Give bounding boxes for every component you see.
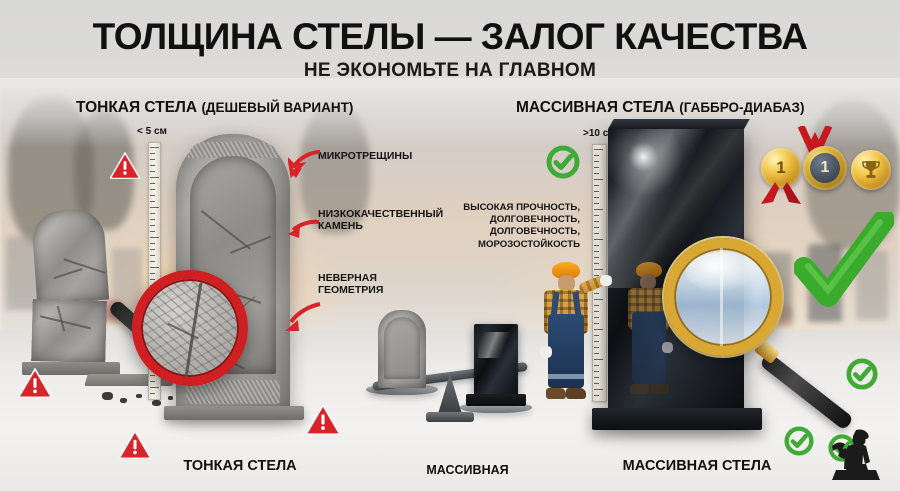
ruler-tick [594,221,599,222]
massive-stele-top-edge [608,119,750,129]
section-heading-thin-paren: (ДЕШЕВЫЙ ВАРИАНТ) [201,100,353,115]
ruler-tick [150,183,155,184]
ruler-tick [150,387,159,388]
caption-thin: ТОНКАЯ СТЕЛА (ДЕШЕВЫЙ ВАРИАНТ) [110,441,370,491]
scale-thin-stele [378,310,426,388]
caption-massive-main: МАССИВНАЯ СТЕЛА [623,458,772,474]
benefits-list: ВЫСОКАЯ ПРОЧНОСТЬ, ДОЛГОВЕЧНОСТЬ, ДОЛГОВ… [452,202,580,251]
crack-line [57,306,65,332]
ruler-tick [150,261,155,262]
caption-balance-main: МАССИВНАЯ [426,463,508,477]
worker-reflection-boot [650,384,669,394]
worker-reflection-overalls [632,312,666,384]
ruler-tick [150,393,155,394]
medal-trophy [851,150,891,190]
medal-first-center: 1 [803,146,847,190]
ruler-tick [150,213,155,214]
ruler-tick [594,191,599,192]
warning-triangle-icon [306,404,340,435]
check-circle-icon [846,358,878,395]
section-heading-massive-main: МАССИВНАЯ СТЕЛА [516,99,679,116]
worker-reflective-band [548,374,584,379]
ruler-tick [150,147,159,148]
caption-thin-main: ТОНКАЯ СТЕЛА [183,458,296,474]
scale-base [426,412,474,422]
medal-first-left-number: 1 [776,158,785,178]
crack-line [40,315,91,329]
ruler-tick [594,257,599,258]
ruler-tick [594,227,599,228]
arrow-to-geometry [282,300,322,336]
warning-triangle-icon [18,368,52,398]
ruler-tick [150,267,159,268]
ruler-tick [594,251,599,252]
ruler-tick [594,185,599,186]
medal-rosette-red [757,182,805,208]
scale-massive-base [466,394,526,406]
ruler-tick [150,237,159,238]
broken-monument-lower [31,299,107,363]
medal-first-center-number: 1 [810,153,840,183]
rubble-debris [136,394,142,398]
arrow-to-lowquality [286,212,320,242]
worker-boot [566,388,586,399]
ruler-tick [594,215,599,216]
ruler-tick [150,153,155,154]
ruler-tick [150,201,155,202]
magnifier-gold-edge-reflection [720,248,723,346]
page-title: ТОЛЩИНА СТЕЛЫ — ЗАЛОГ КАЧЕСТВА [0,16,900,58]
infographic-canvas: ТОЛЩИНА СТЕЛЫ — ЗАЛОГ КАЧЕСТВА НЕ ЭКОНОМ… [0,0,900,491]
scale-thin-stele-face [384,317,420,379]
broken-monument-upper [31,208,109,305]
ruler-tick [150,243,155,244]
section-heading-massive: МАССИВНАЯ СТЕЛА (ГАББРО-ДИАБАЗ) [516,99,805,117]
ruler-tick [150,195,155,196]
rubble-debris [152,400,161,406]
thin-stele-base [164,406,304,420]
ruler-tick [150,159,155,160]
ruler-tick [594,197,599,198]
ruler-tick [150,249,155,250]
ruler-tick [150,219,155,220]
ruler-tick [150,225,155,226]
caption-massive: МАССИВНАЯ СТЕЛА (ГАББРО-ДИАБАЗ) [572,441,822,491]
ruler-tick [150,381,155,382]
balance-scale [366,300,534,430]
broken-monument [28,210,108,380]
scale-massive-glare [478,332,514,358]
warning-triangle-icon [110,152,140,179]
section-heading-massive-paren: (ГАББРО-ДИАБАЗ) [679,100,804,115]
scale-massive-stele [474,324,518,398]
ruler-tick [594,179,603,180]
worker-reflection-glove [662,342,673,353]
caption-balance: МАССИВНАЯ ПЕРЕВЕШИВАЕТ ТОНКУЮ [360,445,575,491]
ruler-tick [150,375,155,376]
section-heading-thin: ТОНКАЯ СТЕЛА (ДЕШЕВЫЙ ВАРИАНТ) [76,99,353,117]
arrow-to-microcracks [288,148,322,182]
ruler-tick [594,203,599,204]
ruler-tick [150,273,155,274]
defect-label-microcracks: МИКРОТРЕЩИНЫ [318,150,412,162]
rubble-debris [120,398,127,403]
ruler-tick [150,165,155,166]
magnifier-red-lens [132,270,248,386]
ruler-tick [150,231,155,232]
ruler-tick [150,171,155,172]
thin-size-label: < 5 см [137,126,167,137]
crack-line [201,210,251,250]
ruler-tick [594,167,599,168]
worker-glove-low [540,346,552,358]
rubble-debris [102,392,113,400]
check-circle-icon [546,145,580,184]
magnifier-gold-highlight [686,252,760,292]
page-subtitle: НЕ ЭКОНОМЬТЕ НА ГЛАВНОМ [0,60,900,82]
ruler-tick [594,161,599,162]
ruler-tick [150,279,155,280]
ruler-tick [150,255,155,256]
ruler-tick [594,245,599,246]
ruler-tick [150,207,159,208]
crack-line [53,268,82,279]
ruler-tick [150,177,159,178]
worker-reflection-boot [630,384,649,394]
big-check-icon [794,212,894,319]
ruler-tick [594,233,599,234]
stonemason-icon [826,424,884,484]
worker-boot [546,388,566,399]
ruler-tick [594,173,599,174]
ruler-tick [594,239,603,240]
rubble-debris [168,396,173,400]
ruler-tick [150,189,155,190]
ruler-tick [594,149,603,150]
worker-glove [600,275,612,286]
ruler-tick [594,209,603,210]
worker-figure [534,262,596,418]
defect-label-geometry: НЕВЕРНАЯ ГЕОМЕТРИЯ [318,272,383,297]
defect-label-lowquality: НИЗКОКАЧЕСТВЕННЫЙ КАМЕНЬ [318,208,443,233]
trophy-icon [859,158,883,182]
ruler-tick [594,155,599,156]
section-heading-thin-main: ТОНКАЯ СТЕЛА [76,99,201,116]
